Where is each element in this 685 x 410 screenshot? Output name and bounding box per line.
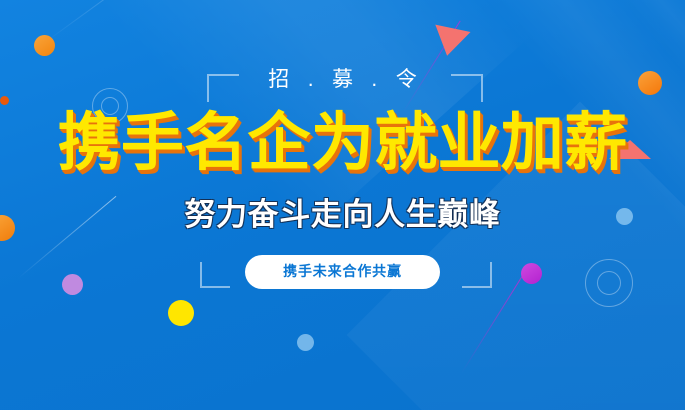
banner-headline: 携手名企为就业加薪 xyxy=(58,112,628,175)
recruitment-banner: 招 . 募 . 令 携手名企为就业加薪 努力奋斗走向人生巅峰 携手未来合作共赢 xyxy=(0,0,685,410)
banner-content: 招 . 募 . 令 携手名企为就业加薪 努力奋斗走向人生巅峰 携手未来合作共赢 xyxy=(0,0,685,410)
banner-eyebrow: 招 . 募 . 令 xyxy=(262,69,423,90)
cta-pill-button[interactable]: 携手未来合作共赢 xyxy=(245,255,440,289)
banner-subheadline: 努力奋斗走向人生巅峰 xyxy=(184,199,500,230)
